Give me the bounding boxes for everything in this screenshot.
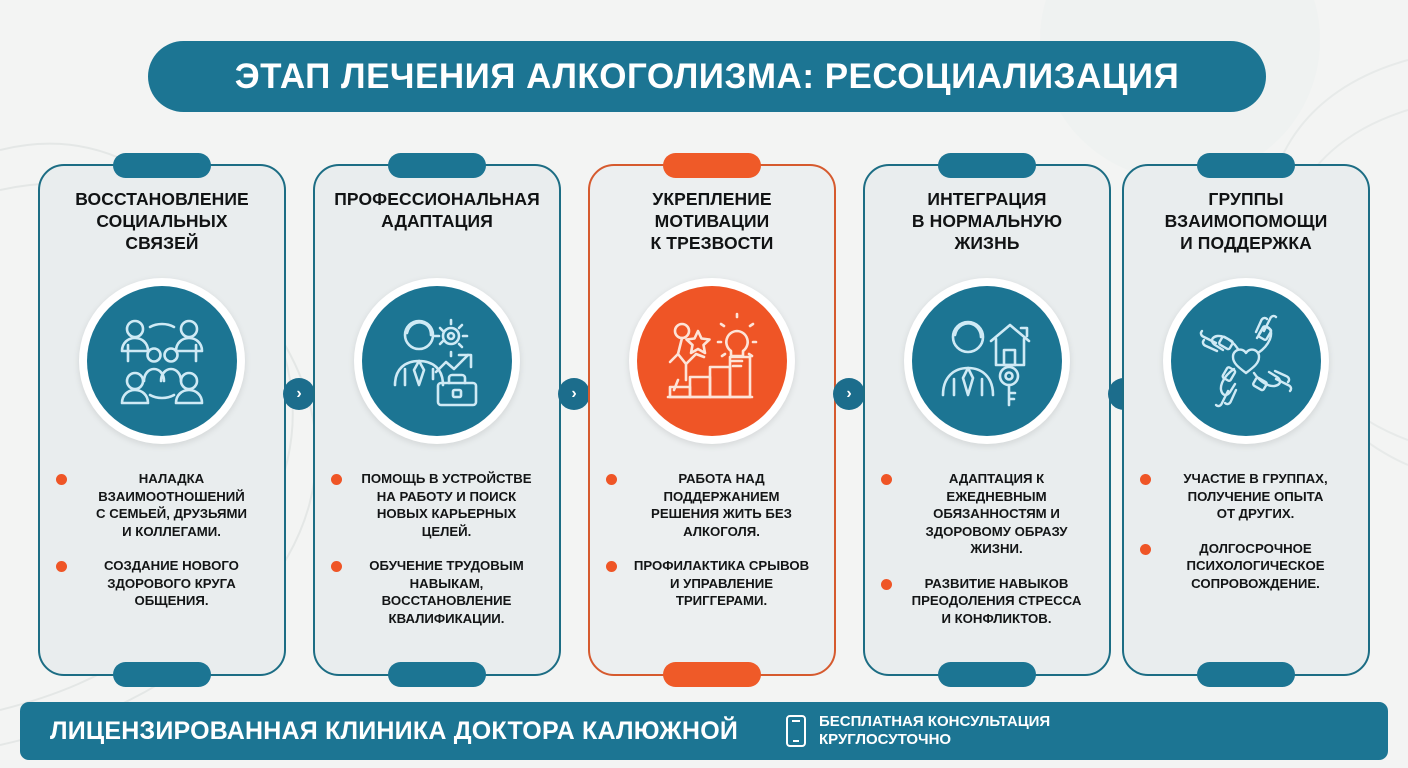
- card-tab-bottom: [388, 662, 486, 687]
- bullet-text: РАБОТА НАД ПОДДЕРЖАНИЕМ РЕШЕНИЯ ЖИТЬ БЕЗ…: [625, 470, 818, 540]
- contact-block[interactable]: БЕСПЛАТНАЯ КОНСУЛЬТАЦИЯ КРУГЛОСУТОЧНО: [786, 713, 1050, 750]
- card-title: ВОССТАНОВЛЕНИЕ СОЦИАЛЬНЫХ СВЯЗЕЙ: [75, 188, 249, 274]
- chevron-right-icon: ›: [296, 385, 301, 403]
- bullet-dot-icon: [56, 561, 67, 572]
- card-title: ГРУППЫ ВЗАИМОПОМОЩИ И ПОДДЕРЖКА: [1165, 188, 1328, 274]
- chevron-right-icon: ›: [571, 385, 576, 403]
- people-network-icon: [87, 286, 237, 436]
- climbing-steps-idea-icon: [637, 286, 787, 436]
- bullet-dot-icon: [881, 579, 892, 590]
- card-bullet-list: АДАПТАЦИЯ К ЕЖЕДНЕВНЫМ ОБЯЗАННОСТЯМ И ЗД…: [875, 470, 1099, 627]
- list-item: РАБОТА НАД ПОДДЕРЖАНИЕМ РЕШЕНИЯ ЖИТЬ БЕЗ…: [606, 470, 818, 540]
- card-icon-wrapper: [79, 278, 245, 444]
- chevron-right-icon: ›: [846, 385, 851, 403]
- bullet-text: ДОЛГОСРОЧНОЕ ПСИХОЛОГИЧЕСКОЕ СОПРОВОЖДЕН…: [1159, 540, 1352, 593]
- stage-card-3[interactable]: УКРЕПЛЕНИЕ МОТИВАЦИИ К ТРЕЗВОСТИ: [588, 164, 836, 676]
- card-tab-top: [388, 153, 486, 178]
- card-title: ИНТЕГРАЦИЯ В НОРМАЛЬНУЮ ЖИЗНЬ: [912, 188, 1062, 274]
- card-title: ПРОФЕССИОНАЛЬНАЯ АДАПТАЦИЯ: [334, 188, 540, 274]
- card-tab-top: [663, 153, 761, 178]
- stage-card-5[interactable]: ГРУППЫ ВЗАИМОПОМОЩИ И ПОДДЕРЖКА: [1122, 164, 1370, 676]
- footer-bar: ЛИЦЕНЗИРОВАННАЯ КЛИНИКА ДОКТОРА КАЛЮЖНОЙ…: [20, 702, 1388, 760]
- card-icon-wrapper: [629, 278, 795, 444]
- card-tab-top: [938, 153, 1036, 178]
- career-growth-icon: [362, 286, 512, 436]
- hands-heart-icon: [1171, 286, 1321, 436]
- list-item: НАЛАДКА ВЗАИМООТНОШЕНИЙ С СЕМЬЕЙ, ДРУЗЬЯ…: [56, 470, 268, 540]
- card-tab-top: [113, 153, 211, 178]
- bullet-text: РАЗВИТИЕ НАВЫКОВ ПРЕОДОЛЕНИЯ СТРЕССА И К…: [900, 575, 1093, 628]
- bullet-text: УЧАСТИЕ В ГРУППАХ, ПОЛУЧЕНИЕ ОПЫТА ОТ ДР…: [1159, 470, 1352, 523]
- stage-card-4[interactable]: ИНТЕГРАЦИЯ В НОРМАЛЬНУЮ ЖИЗНЬ: [863, 164, 1111, 676]
- stage-card-2[interactable]: ПРОФЕССИОНАЛЬНАЯ АДАПТАЦИЯ: [313, 164, 561, 676]
- bullet-dot-icon: [881, 474, 892, 485]
- bullet-dot-icon: [606, 474, 617, 485]
- person-house-key-icon: [912, 286, 1062, 436]
- list-item: ДОЛГОСРОЧНОЕ ПСИХОЛОГИЧЕСКОЕ СОПРОВОЖДЕН…: [1140, 540, 1352, 593]
- list-item: РАЗВИТИЕ НАВЫКОВ ПРЕОДОЛЕНИЯ СТРЕССА И К…: [881, 575, 1093, 628]
- card-bullet-list: НАЛАДКА ВЗАИМООТНОШЕНИЙ С СЕМЬЕЙ, ДРУЗЬЯ…: [50, 470, 274, 610]
- card-tab-bottom: [1197, 662, 1295, 687]
- card-icon-wrapper: [354, 278, 520, 444]
- list-item: ПОМОЩЬ В УСТРОЙСТВЕ НА РАБОТУ И ПОИСК НО…: [331, 470, 543, 540]
- arrow-connector-1: ›: [283, 378, 315, 410]
- bullet-text: ОБУЧЕНИЕ ТРУДОВЫМ НАВЫКАМ, ВОССТАНОВЛЕНИ…: [350, 557, 543, 627]
- list-item: ОБУЧЕНИЕ ТРУДОВЫМ НАВЫКАМ, ВОССТАНОВЛЕНИ…: [331, 557, 543, 627]
- bullet-dot-icon: [331, 474, 342, 485]
- list-item: СОЗДАНИЕ НОВОГО ЗДОРОВОГО КРУГА ОБЩЕНИЯ.: [56, 557, 268, 610]
- bullet-dot-icon: [1140, 474, 1151, 485]
- page-title-banner: ЭТАП ЛЕЧЕНИЯ АЛКОГОЛИЗМА: РЕСОЦИАЛИЗАЦИЯ: [148, 41, 1266, 112]
- contact-line-1: БЕСПЛАТНАЯ КОНСУЛЬТАЦИЯ: [819, 713, 1050, 731]
- arrow-connector-3: ›: [833, 378, 865, 410]
- card-icon-wrapper: [904, 278, 1070, 444]
- bullet-dot-icon: [1140, 544, 1151, 555]
- card-icon-wrapper: [1163, 278, 1329, 444]
- stage-cards-row: ВОССТАНОВЛЕНИЕ СОЦИАЛЬНЫХ СВЯЗЕЙ: [0, 150, 1408, 680]
- card-bullet-list: РАБОТА НАД ПОДДЕРЖАНИЕМ РЕШЕНИЯ ЖИТЬ БЕЗ…: [600, 470, 824, 610]
- bullet-dot-icon: [331, 561, 342, 572]
- list-item: ПРОФИЛАКТИКА СРЫВОВ И УПРАВЛЕНИЕ ТРИГГЕР…: [606, 557, 818, 610]
- bullet-text: ПОМОЩЬ В УСТРОЙСТВЕ НА РАБОТУ И ПОИСК НО…: [350, 470, 543, 540]
- stage-card-1[interactable]: ВОССТАНОВЛЕНИЕ СОЦИАЛЬНЫХ СВЯЗЕЙ: [38, 164, 286, 676]
- list-item: УЧАСТИЕ В ГРУППАХ, ПОЛУЧЕНИЕ ОПЫТА ОТ ДР…: [1140, 470, 1352, 523]
- bullet-dot-icon: [606, 561, 617, 572]
- arrow-connector-2: ›: [558, 378, 590, 410]
- page-title: ЭТАП ЛЕЧЕНИЯ АЛКОГОЛИЗМА: РЕСОЦИАЛИЗАЦИЯ: [235, 57, 1180, 97]
- card-tab-bottom: [938, 662, 1036, 687]
- card-bullet-list: ПОМОЩЬ В УСТРОЙСТВЕ НА РАБОТУ И ПОИСК НО…: [325, 470, 549, 627]
- bullet-text: СОЗДАНИЕ НОВОГО ЗДОРОВОГО КРУГА ОБЩЕНИЯ.: [75, 557, 268, 610]
- phone-icon: [786, 715, 806, 747]
- card-title: УКРЕПЛЕНИЕ МОТИВАЦИИ К ТРЕЗВОСТИ: [651, 188, 774, 274]
- contact-text: БЕСПЛАТНАЯ КОНСУЛЬТАЦИЯ КРУГЛОСУТОЧНО: [819, 713, 1050, 750]
- bullet-text: НАЛАДКА ВЗАИМООТНОШЕНИЙ С СЕМЬЕЙ, ДРУЗЬЯ…: [75, 470, 268, 540]
- card-tab-bottom: [113, 662, 211, 687]
- bullet-dot-icon: [56, 474, 67, 485]
- contact-line-2: КРУГЛОСУТОЧНО: [819, 731, 1050, 749]
- card-tab-bottom: [663, 662, 761, 687]
- card-bullet-list: УЧАСТИЕ В ГРУППАХ, ПОЛУЧЕНИЕ ОПЫТА ОТ ДР…: [1134, 470, 1358, 592]
- clinic-name: ЛИЦЕНЗИРОВАННАЯ КЛИНИКА ДОКТОРА КАЛЮЖНОЙ: [50, 717, 738, 746]
- list-item: АДАПТАЦИЯ К ЕЖЕДНЕВНЫМ ОБЯЗАННОСТЯМ И ЗД…: [881, 470, 1093, 558]
- bullet-text: АДАПТАЦИЯ К ЕЖЕДНЕВНЫМ ОБЯЗАННОСТЯМ И ЗД…: [900, 470, 1093, 558]
- card-tab-top: [1197, 153, 1295, 178]
- infographic-page: ЭТАП ЛЕЧЕНИЯ АЛКОГОЛИЗМА: РЕСОЦИАЛИЗАЦИЯ…: [0, 0, 1408, 768]
- bullet-text: ПРОФИЛАКТИКА СРЫВОВ И УПРАВЛЕНИЕ ТРИГГЕР…: [625, 557, 818, 610]
